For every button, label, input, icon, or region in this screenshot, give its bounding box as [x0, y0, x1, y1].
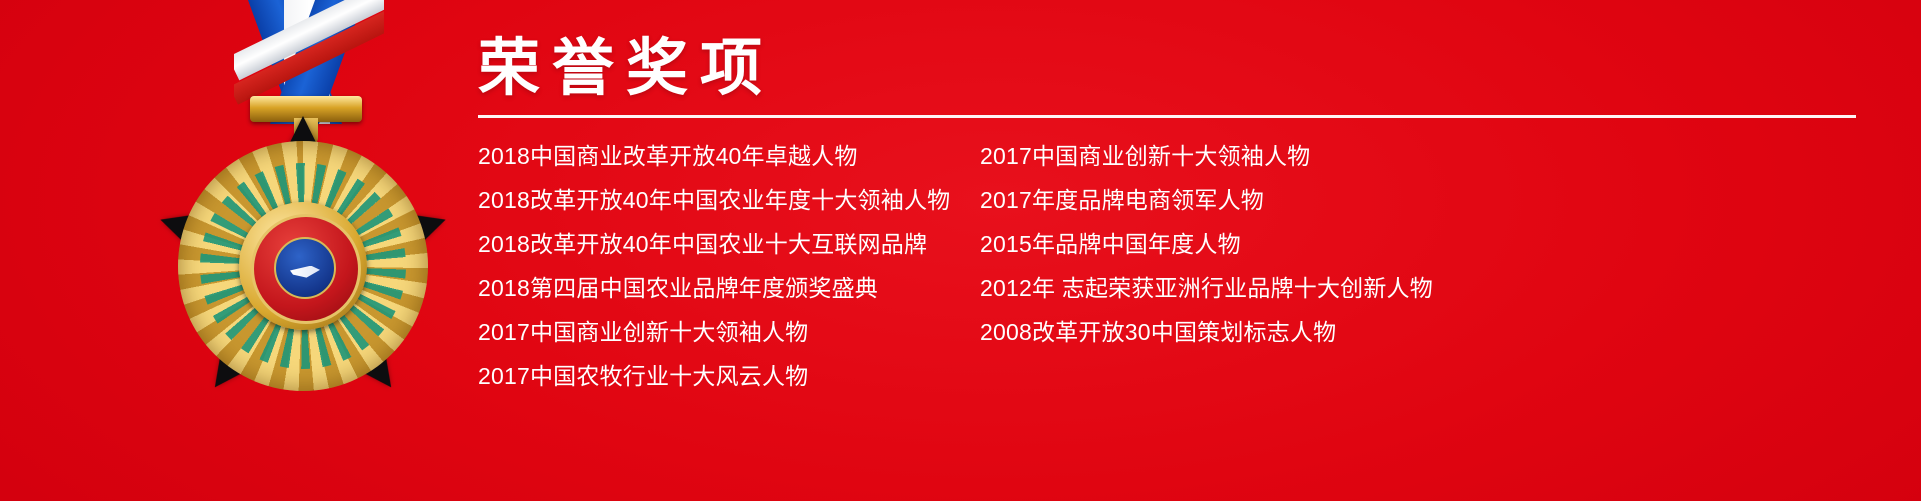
award-item: 2017中国商业创新十大领袖人物	[478, 310, 980, 354]
award-item: 2012年 志起荣获亚洲行业品牌十大创新人物	[980, 266, 1433, 310]
medal-center-emblem	[274, 237, 336, 299]
award-item: 2018改革开放40年中国农业年度十大领袖人物	[478, 178, 980, 222]
award-item: 2017年度品牌电商领军人物	[980, 178, 1433, 222]
award-item: 2018中国商业改革开放40年卓越人物	[478, 134, 980, 178]
medal-star-body	[138, 120, 468, 412]
page-title: 荣誉奖项	[478, 36, 1885, 101]
award-item: 2017中国商业创新十大领袖人物	[980, 134, 1433, 178]
award-item: 2018改革开放40年中国农业十大互联网品牌	[478, 222, 980, 266]
award-item: 2017中国农牧行业十大风云人物	[478, 354, 980, 398]
awards-left-column: 2018中国商业改革开放40年卓越人物 2018改革开放40年中国农业年度十大领…	[478, 134, 980, 398]
title-divider	[478, 115, 1856, 118]
content-area: 荣誉奖项 2018中国商业改革开放40年卓越人物 2018改革开放40年中国农业…	[478, 36, 1885, 398]
honor-awards-banner: 荣誉奖项 2018中国商业改革开放40年卓越人物 2018改革开放40年中国农业…	[0, 0, 1921, 501]
award-item: 2008改革开放30中国策划标志人物	[980, 310, 1433, 354]
awards-right-column: 2017中国商业创新十大领袖人物 2017年度品牌电商领军人物 2015年品牌中…	[980, 134, 1433, 398]
awards-columns: 2018中国商业改革开放40年卓越人物 2018改革开放40年中国农业年度十大领…	[478, 134, 1885, 398]
award-item: 2015年品牌中国年度人物	[980, 222, 1433, 266]
star-medal-icon	[138, 0, 468, 412]
award-item: 2018第四届中国农业品牌年度颁奖盛典	[478, 266, 980, 310]
